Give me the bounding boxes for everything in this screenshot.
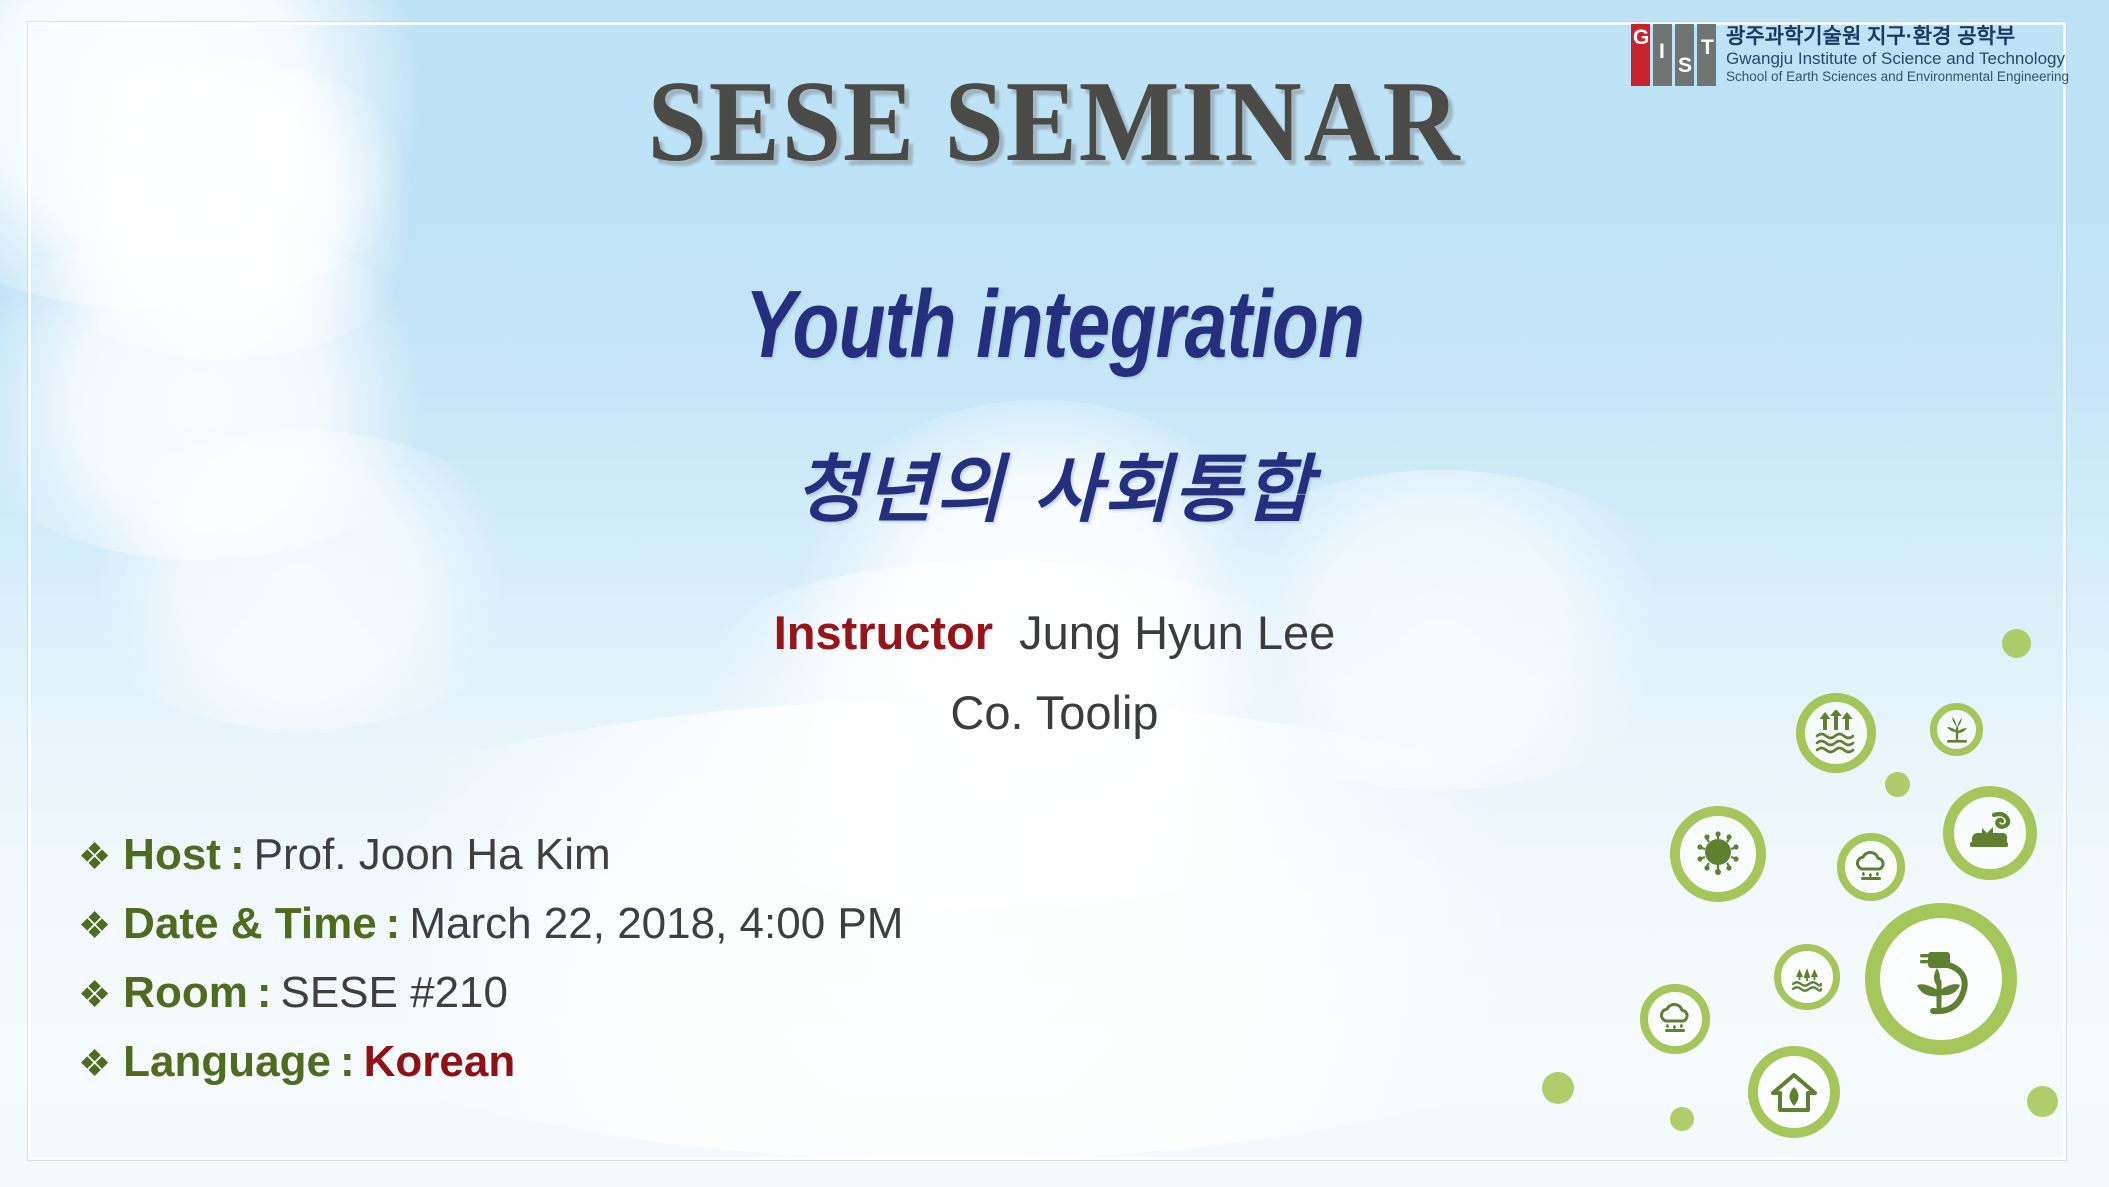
trees-water-icon: [1774, 944, 1840, 1010]
detail-value-datetime: March 22, 2018, 4:00 PM: [409, 899, 903, 949]
list-item: ❖ Host : Prof. Joon Ha Kim: [78, 830, 903, 880]
decorative-dot: [2027, 1086, 2058, 1117]
detail-label-language: Language: [123, 1037, 331, 1087]
detail-value-language: Korean: [364, 1037, 516, 1087]
list-item: ❖ Language : Korean: [78, 1037, 903, 1087]
diamond-bullet-icon: ❖: [78, 907, 111, 944]
detail-value-host: Prof. Joon Ha Kim: [254, 830, 611, 880]
cloud-rain-icon: [1837, 833, 1905, 901]
detail-value-room: SESE #210: [280, 968, 508, 1018]
detail-separator: :: [257, 968, 272, 1018]
talk-subtitle-korean: 청년의 사회통합: [0, 430, 2109, 537]
detail-label-room: Room: [123, 968, 248, 1018]
diamond-bullet-icon: ❖: [78, 976, 111, 1013]
gist-letter-t-text: T: [1701, 37, 1714, 58]
detail-separator: :: [340, 1037, 355, 1087]
list-item: ❖ Date & Time : March 22, 2018, 4:00 PM: [78, 899, 903, 949]
detail-separator: :: [386, 899, 401, 949]
instructor-line: InstructorJung Hyun Lee: [0, 605, 2109, 660]
factory-smoke-icon: [1943, 786, 2037, 880]
seminar-details-list: ❖ Host : Prof. Joon Ha Kim ❖ Date & Time…: [78, 830, 903, 1106]
decorative-dot: [1885, 772, 1910, 797]
cloud-rain-small-icon: [1640, 984, 1710, 1054]
instructor-label: Instructor: [774, 606, 993, 659]
diamond-bullet-icon: ❖: [78, 1045, 111, 1082]
detail-label-host: Host: [123, 830, 221, 880]
gist-letter-g-text: G: [1633, 27, 1649, 48]
instructor-name: Jung Hyun Lee: [1019, 606, 1335, 659]
decorative-dot: [1670, 1107, 1694, 1131]
talk-subtitle-english: Youth integration: [211, 270, 1898, 380]
diamond-bullet-icon: ❖: [78, 838, 111, 875]
virus-cell-icon: [1670, 806, 1766, 902]
detail-separator: :: [230, 830, 245, 880]
instructor-company: Co. Toolip: [0, 685, 2109, 740]
house-leaf-icon: [1748, 1046, 1840, 1138]
gist-korean-name: 광주과학기술원 지구·환경 공학부: [1726, 25, 2069, 50]
list-item: ❖ Room : SESE #210: [78, 968, 903, 1018]
seminar-poster: G I S T 광주과학기술원 지구·환경 공학부 Gwangju Instit…: [0, 0, 2109, 1187]
plant-plug-energy-icon: [1865, 903, 2017, 1055]
page-title: SESE SEMINAR: [84, 56, 2024, 189]
decorative-dot: [1542, 1072, 1574, 1104]
detail-label-datetime: Date & Time: [123, 899, 377, 949]
